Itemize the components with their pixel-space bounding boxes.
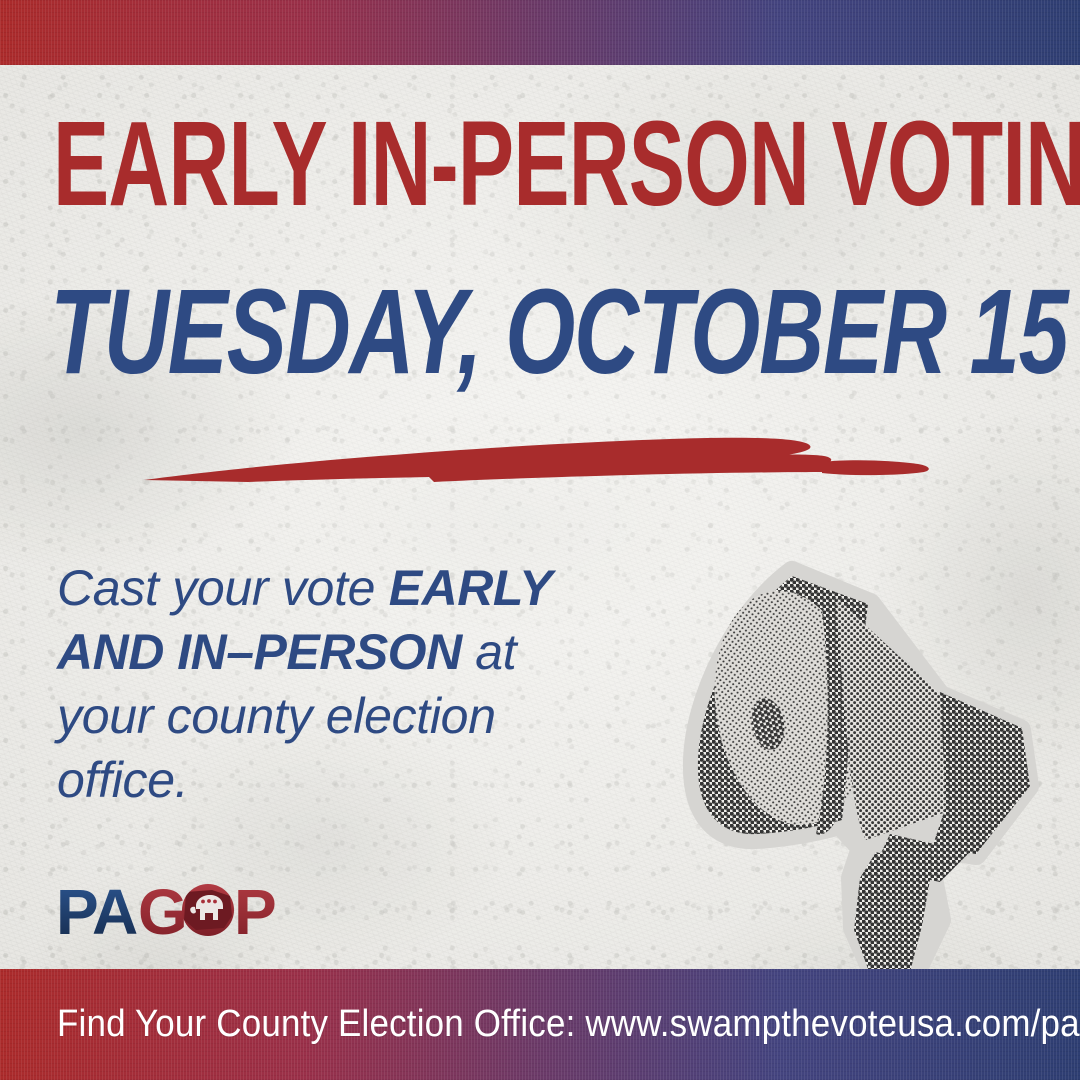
body-copy-lead: Cast your vote	[57, 560, 389, 616]
bottom-gradient-bar: Find Your County Election Office: www.sw…	[0, 969, 1080, 1080]
logo-pa-text: PA	[56, 876, 137, 944]
top-gradient-bar	[0, 0, 1080, 65]
footer-url-text[interactable]: Find Your County Election Office: www.sw…	[57, 1003, 1080, 1046]
pagop-logo[interactable]: PA G	[56, 872, 316, 944]
megaphone-icon	[640, 548, 1060, 1008]
event-date: TUESDAY, OCTOBER 15	[50, 272, 1068, 393]
logo-p-text: P	[234, 876, 275, 944]
body-copy: Cast your vote EARLY AND IN–PERSON at yo…	[57, 556, 577, 812]
top-bar-grain	[0, 0, 1080, 65]
swoosh-tail	[822, 460, 929, 475]
logo-o-emblem	[182, 884, 234, 936]
red-swoosh-underline	[128, 426, 948, 490]
elephant-stars	[201, 899, 217, 903]
logo-g-text: G	[138, 876, 186, 944]
poster-canvas: EARLY IN-PERSON VOTING TUESDAY, OCTOBER …	[0, 0, 1080, 1080]
page-title: EARLY IN-PERSON VOTING	[53, 103, 1044, 224]
